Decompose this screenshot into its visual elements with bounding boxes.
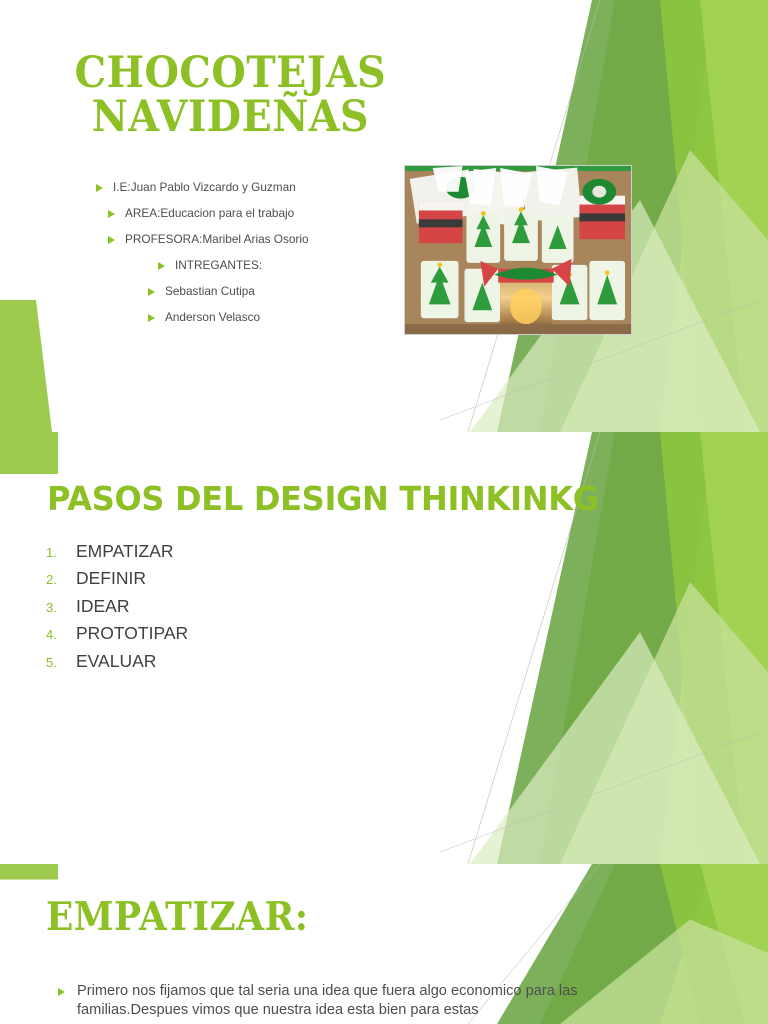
list-item: 1. EMPATIZAR (46, 542, 366, 560)
list-item: Sebastian Cutipa (148, 286, 396, 298)
step-label: PROTOTIPAR (76, 624, 188, 642)
slide-1-title: CHOCOTEJAS NAVIDEÑAS (74, 52, 387, 140)
slide-2-heading: PASOS DEL DESIGN THINKINKG (47, 479, 599, 518)
step-label: IDEAR (76, 597, 129, 615)
bullet-triangle-icon (108, 236, 115, 244)
step-number: 5. (46, 655, 76, 670)
bullet-triangle-icon (58, 988, 65, 996)
list-item: AREA:Educacion para el trabajo (108, 208, 396, 220)
list-item: 2. DEFINIR (46, 569, 366, 587)
list-item: PROFESORA:Maribel Arias Osorio (108, 234, 396, 246)
bullet-label: PROFESORA:Maribel Arias Osorio (125, 234, 309, 246)
list-item: 5. EVALUAR (46, 652, 366, 670)
empatizar-paragraph: Primero nos fijamos que tal seria una id… (58, 982, 586, 1021)
bullet-triangle-icon (148, 288, 155, 296)
step-label: DEFINIR (76, 569, 146, 587)
bullet-triangle-icon (148, 314, 155, 322)
slide-2: PASOS DEL DESIGN THINKINKG 1. EMPATIZAR … (0, 432, 768, 864)
bullet-label: INTREGANTES: (175, 260, 262, 272)
step-number: 2. (46, 572, 76, 587)
list-item: INTREGANTES: (158, 260, 396, 272)
paragraph-text: Primero nos fijamos que tal seria una id… (77, 982, 586, 1021)
bullet-label: Sebastian Cutipa (165, 286, 255, 298)
bullet-label: AREA:Educacion para el trabajo (125, 208, 294, 220)
list-item: I.E:Juan Pablo Vizcardo y Guzman (96, 182, 396, 194)
step-number: 4. (46, 627, 76, 642)
list-item: Anderson Velasco (148, 312, 396, 324)
design-thinking-steps-list: 1. EMPATIZAR 2. DEFINIR 3. IDEAR 4. PROT… (46, 542, 366, 679)
slide-3: EMPATIZAR: Primero nos fijamos que tal s… (0, 864, 768, 1024)
slide-1-bullet-list: I.E:Juan Pablo Vizcardo y Guzman AREA:Ed… (96, 182, 396, 338)
presentation-deck: CHOCOTEJAS NAVIDEÑAS I.E:Juan Pablo Vizc… (0, 0, 768, 1024)
step-label: EMPATIZAR (76, 542, 174, 560)
bullet-triangle-icon (158, 262, 165, 270)
list-item: 3. IDEAR (46, 597, 366, 615)
list-item: 4. PROTOTIPAR (46, 624, 366, 642)
step-number: 1. (46, 545, 76, 560)
bullet-triangle-icon (108, 210, 115, 218)
bullet-label: Anderson Velasco (165, 312, 260, 324)
chocotejas-photo (404, 165, 632, 335)
step-number: 3. (46, 600, 76, 615)
bullet-triangle-icon (96, 184, 103, 192)
bullet-label: I.E:Juan Pablo Vizcardo y Guzman (113, 182, 296, 194)
slide-3-title: EMPATIZAR: (46, 898, 350, 938)
step-label: EVALUAR (76, 652, 156, 670)
slide-1: CHOCOTEJAS NAVIDEÑAS I.E:Juan Pablo Vizc… (0, 0, 768, 432)
